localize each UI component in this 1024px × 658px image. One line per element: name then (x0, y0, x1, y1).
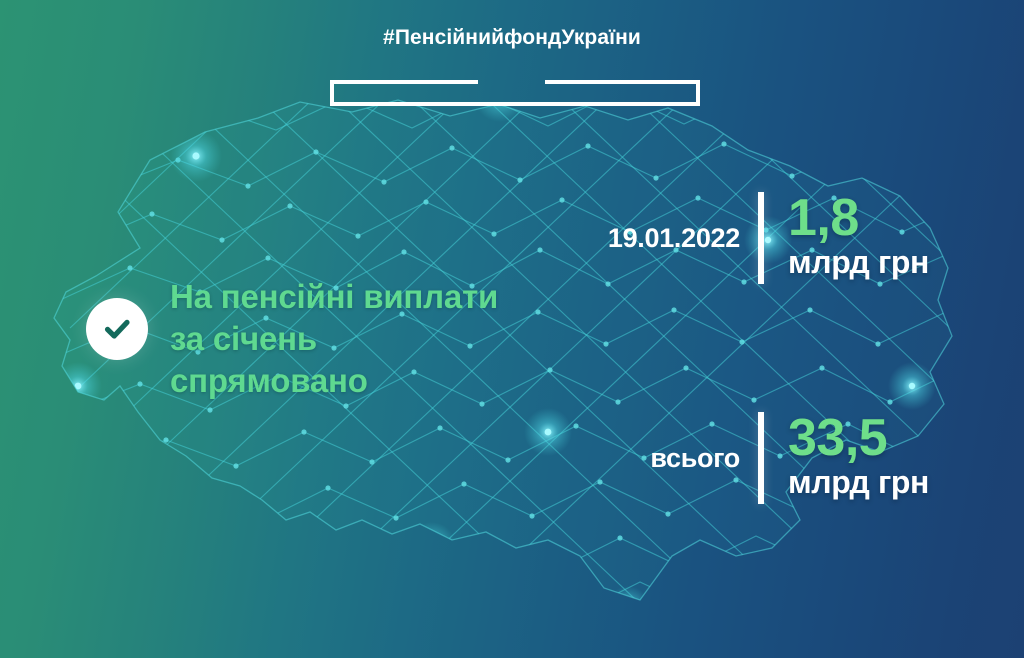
hashtag-label: #ПенсійнийфондУкраїни (0, 26, 1024, 50)
check-icon (100, 312, 134, 346)
stat-values: 1,8 млрд грн (788, 194, 929, 282)
stat-label-total: всього (600, 443, 740, 474)
headline-block: На пенсійні виплати за січень спрямовано (86, 276, 510, 403)
stat-value-date: 1,8 (788, 194, 929, 244)
stat-divider (758, 412, 764, 504)
stat-values: 33,5 млрд грн (788, 414, 929, 502)
frame-edge-top-left (330, 80, 478, 84)
stat-unit-date: млрд грн (788, 244, 929, 282)
decorative-frame (330, 80, 700, 106)
page-title: На пенсійні виплати за січень спрямовано (170, 276, 510, 403)
check-badge (86, 298, 148, 360)
stat-divider (758, 192, 764, 284)
stat-row-total: всього 33,5 млрд грн (600, 412, 929, 504)
stat-row-date: 19.01.2022 1,8 млрд грн (600, 192, 929, 284)
stat-unit-total: млрд грн (788, 464, 929, 502)
frame-edge-top-right (545, 80, 700, 84)
stat-label-date: 19.01.2022 (600, 223, 740, 254)
frame-edge-bottom (330, 102, 700, 106)
infographic-poster: #ПенсійнийфондУкраїни На пенсійні виплат… (0, 0, 1024, 658)
stat-value-total: 33,5 (788, 414, 929, 464)
